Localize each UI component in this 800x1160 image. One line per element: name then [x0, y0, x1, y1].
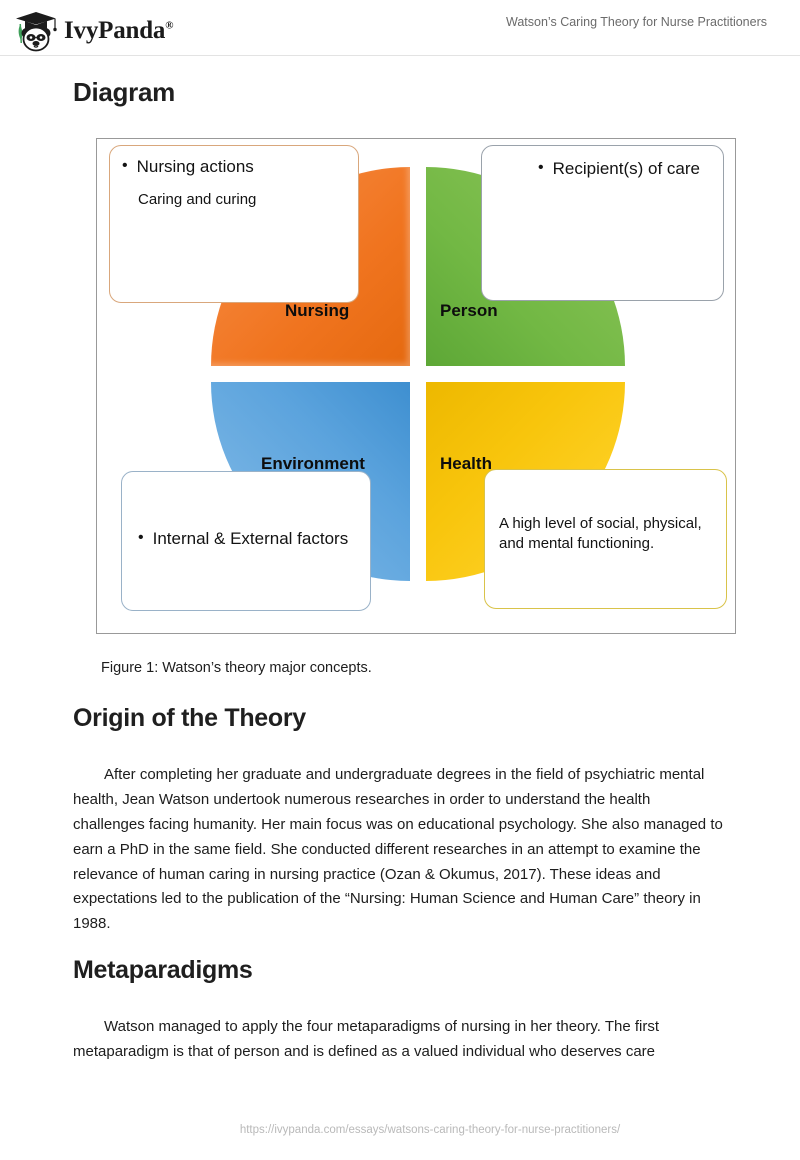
- panda-graduation-cap-logo-icon: [14, 10, 58, 52]
- callout-health: A high level of social, physical, and me…: [484, 469, 727, 609]
- callout-environment: • Internal & External factors: [121, 471, 371, 611]
- bullet-icon: •: [538, 158, 544, 180]
- callout-health-text: A high level of social, physical, and me…: [499, 514, 714, 553]
- quadrant-label-nursing: Nursing: [285, 301, 349, 321]
- figure-caption: Figure 1: Watson’s theory major concepts…: [101, 660, 372, 676]
- brand-logo-link[interactable]: IvyPanda®: [14, 10, 173, 52]
- callout-person-bullet-text: Recipient(s) of care: [553, 158, 700, 180]
- heading-diagram: Diagram: [73, 77, 175, 108]
- registered-trademark-mark: ®: [165, 20, 173, 32]
- callout-person-bullet: • Recipient(s) of care: [538, 158, 711, 180]
- document-title: Watson’s Caring Theory for Nurse Practit…: [506, 15, 767, 29]
- quadrant-label-environment: Environment: [261, 454, 365, 474]
- callout-nursing-sub: Caring and curing: [138, 190, 346, 209]
- callout-person: • Recipient(s) of care: [481, 145, 724, 301]
- quadrant-label-health: Health: [440, 454, 492, 474]
- footer-source-url[interactable]: https://ivypanda.com/essays/watsons-cari…: [0, 1124, 800, 1136]
- callout-environment-bullet-text: Internal & External factors: [153, 528, 349, 550]
- heading-origin-of-the-theory: Origin of the Theory: [73, 704, 306, 733]
- figure-diagram: Nursing Person Environment Health • Nurs…: [96, 138, 736, 634]
- page-header: IvyPanda® Watson’s Caring Theory for Nur…: [0, 0, 800, 56]
- heading-metaparadigms: Metaparadigms: [73, 956, 253, 985]
- brand-name: IvyPanda®: [64, 17, 173, 45]
- paragraph-metaparadigms: Watson managed to apply the four metapar…: [73, 1015, 723, 1065]
- bullet-icon: •: [138, 528, 144, 550]
- callout-nursing-bullet-text: Nursing actions: [137, 156, 254, 178]
- callout-nursing: • Nursing actions Caring and curing: [109, 145, 359, 303]
- paragraph-origin: After completing her graduate and underg…: [73, 763, 723, 937]
- callout-environment-bullet: • Internal & External factors: [138, 528, 358, 550]
- bullet-icon: •: [122, 156, 128, 178]
- callout-nursing-bullet: • Nursing actions: [122, 156, 346, 178]
- quadrant-label-person: Person: [440, 301, 498, 321]
